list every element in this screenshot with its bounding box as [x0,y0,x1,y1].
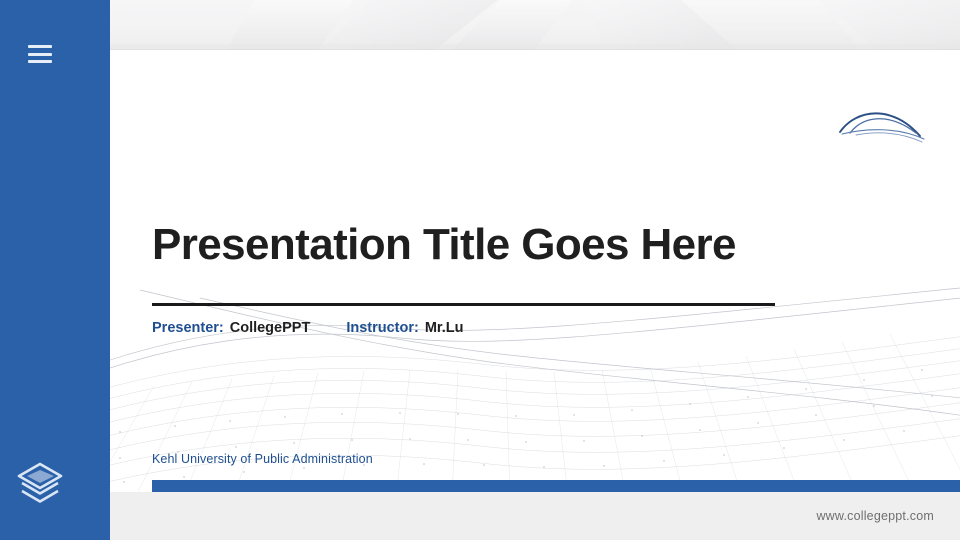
left-sidebar [0,0,110,540]
top-decorative-band [110,0,960,52]
title-divider [152,303,775,306]
viewer-footer: www.collegeppt.com [110,492,960,540]
instructor-credit: Instructor: Mr.Lu [346,320,463,336]
presenter-credit: Presenter: CollegePPT [152,320,310,336]
affiliation-text: Kehl University of Public Administration [152,452,373,466]
page-title: Presentation Title Goes Here [152,222,852,269]
hamburger-line [28,53,52,56]
hamburger-line [28,45,52,48]
arch-bridge-logo-icon [836,102,928,146]
ppt-template-preview: Presentation Title Goes Here Presenter: … [0,0,960,540]
stacked-layers-logo-icon[interactable] [14,458,66,510]
presenter-value: CollegePPT [230,320,311,336]
slide-accent-bar [152,480,960,492]
hamburger-menu-icon[interactable] [28,45,52,63]
instructor-value: Mr.Lu [425,320,464,336]
slide-canvas[interactable]: Presentation Title Goes Here Presenter: … [80,50,960,492]
hamburger-line [28,60,52,63]
site-url[interactable]: www.collegeppt.com [816,509,934,523]
presenter-label: Presenter: [152,320,224,336]
credits-row: Presenter: CollegePPT Instructor: Mr.Lu [152,320,463,336]
instructor-label: Instructor: [346,320,419,336]
